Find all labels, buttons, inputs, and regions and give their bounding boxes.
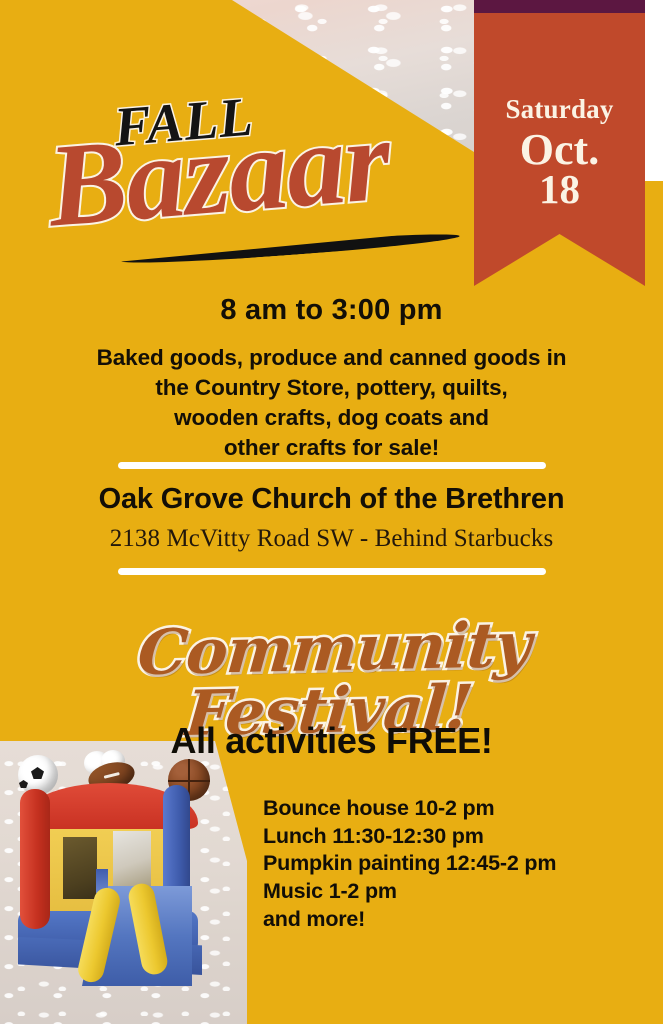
bounce-house-window-left [63, 837, 97, 899]
activity-item: Music 1-2 pm [263, 878, 556, 906]
ribbon-weekday: Saturday [474, 96, 645, 123]
bounce-house-post-right [163, 785, 190, 903]
activity-item: Pumpkin painting 12:45-2 pm [263, 850, 556, 878]
right-white-margin [645, 0, 663, 181]
ribbon-day-number: 18 [474, 170, 645, 209]
bounce-house-post-left [20, 789, 50, 929]
ribbon-date-text: Saturday Oct. 18 [474, 0, 645, 209]
bounce-house-photo [0, 741, 247, 1024]
venue-address: 2138 McVitty Road SW - Behind Starbucks [0, 525, 663, 553]
description-line: wooden crafts, dog coats and [0, 403, 663, 433]
bounce-house-window-right [113, 831, 151, 889]
divider-top [118, 462, 546, 469]
activity-item: Bounce house 10-2 pm [263, 795, 556, 823]
logo-bazaar-word: Bazaar [44, 100, 394, 245]
description-line: the Country Store, pottery, quilts, [0, 373, 663, 403]
event-description: Baked goods, produce and canned goods in… [0, 343, 663, 463]
activity-item: and more! [263, 906, 556, 934]
divider-bottom [118, 568, 546, 575]
activity-item: Lunch 11:30-12:30 pm [263, 823, 556, 851]
venue-name: Oak Grove Church of the Brethren [0, 483, 663, 516]
fall-bazaar-logo: FALL Bazaar [48, 94, 468, 284]
description-line: Baked goods, produce and canned goods in [0, 343, 663, 373]
event-time: 8 am to 3:00 pm [0, 294, 663, 327]
fall-bazaar-flyer: Saturday Oct. 18 FALL Bazaar 8 am to 3:0… [0, 0, 663, 1024]
all-activities-free: All activities FREE! [0, 720, 663, 762]
description-line: other crafts for sale! [0, 433, 663, 463]
activities-list: Bounce house 10-2 pm Lunch 11:30-12:30 p… [263, 795, 556, 934]
